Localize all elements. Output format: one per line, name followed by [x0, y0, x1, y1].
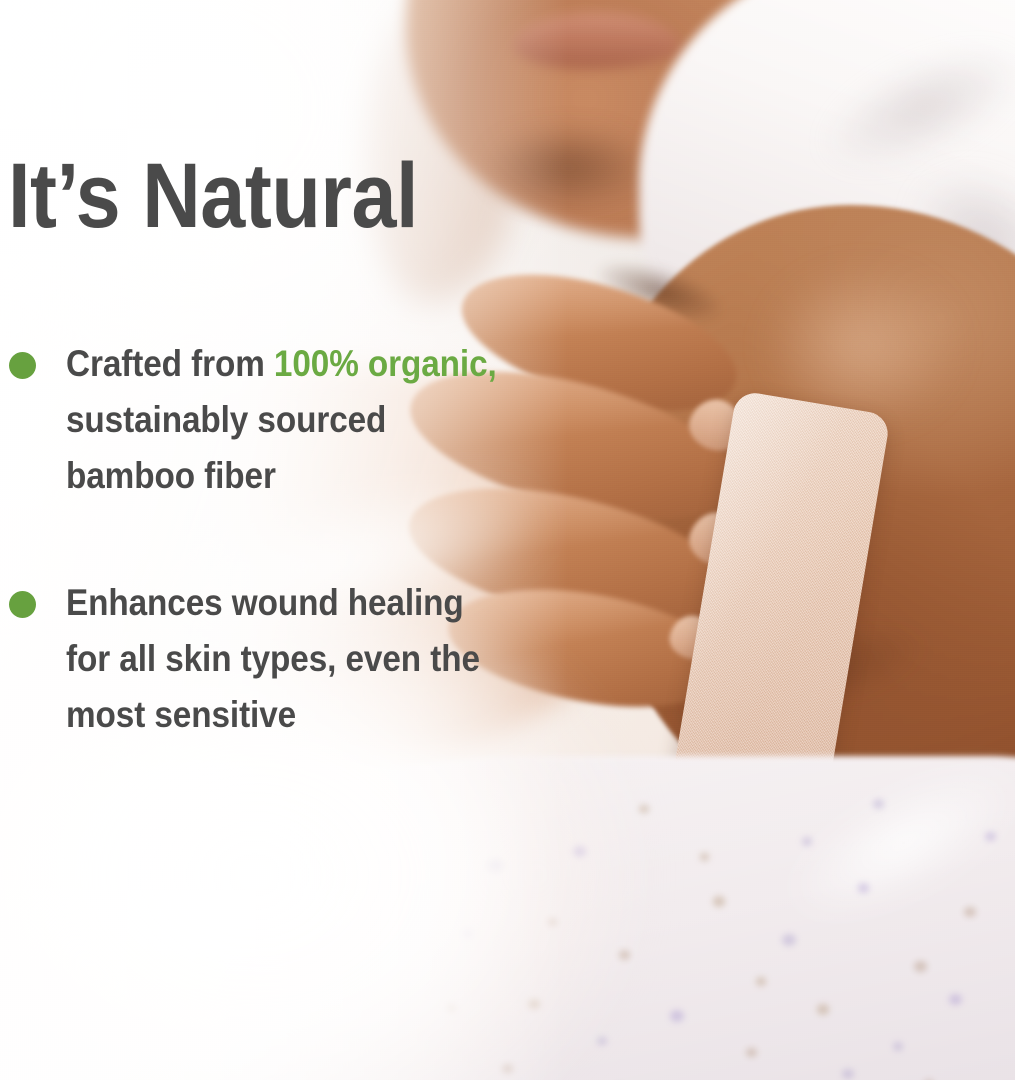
benefit-2-part-1: Enhances wound healing for all skin type…	[66, 582, 480, 735]
benefit-1-part-1: Crafted from	[66, 343, 274, 384]
list-item: Crafted from 100% organic, sustainably s…	[0, 336, 560, 505]
list-item: Enhances wound healing for all skin type…	[0, 575, 560, 744]
fabric-speck	[873, 799, 884, 808]
benefit-1-part-3: sustainably sourced bamboo fiber	[66, 399, 386, 496]
benefit-text-1: Crafted from 100% organic, sustainably s…	[66, 336, 511, 505]
fabric-speck	[746, 1048, 757, 1057]
benefit-1-highlight: 100% organic,	[274, 343, 497, 384]
fabric-speck	[893, 1042, 903, 1051]
marketing-banner: It’s Natural Crafted from 100% organic, …	[0, 0, 1015, 1080]
bullet-dot-icon	[9, 352, 36, 379]
bullet-dot-icon	[9, 591, 36, 618]
fabric-speck	[914, 961, 927, 972]
fabric-speck	[949, 994, 962, 1005]
fabric-speck	[713, 896, 725, 906]
fabric-speck	[782, 934, 796, 946]
benefit-text-2: Enhances wound healing for all skin type…	[66, 575, 511, 744]
fabric-speck	[985, 832, 996, 841]
fabric-speck	[756, 977, 766, 986]
fabric-speck	[858, 883, 869, 892]
fabric-speck	[670, 1010, 684, 1022]
benefit-list: Crafted from 100% organic, sustainably s…	[0, 336, 560, 813]
fabric-speck	[817, 1004, 829, 1014]
copy-block: It’s Natural Crafted from 100% organic, …	[0, 0, 560, 1080]
fabric-speck	[802, 837, 812, 846]
page-title: It’s Natural	[8, 150, 418, 242]
